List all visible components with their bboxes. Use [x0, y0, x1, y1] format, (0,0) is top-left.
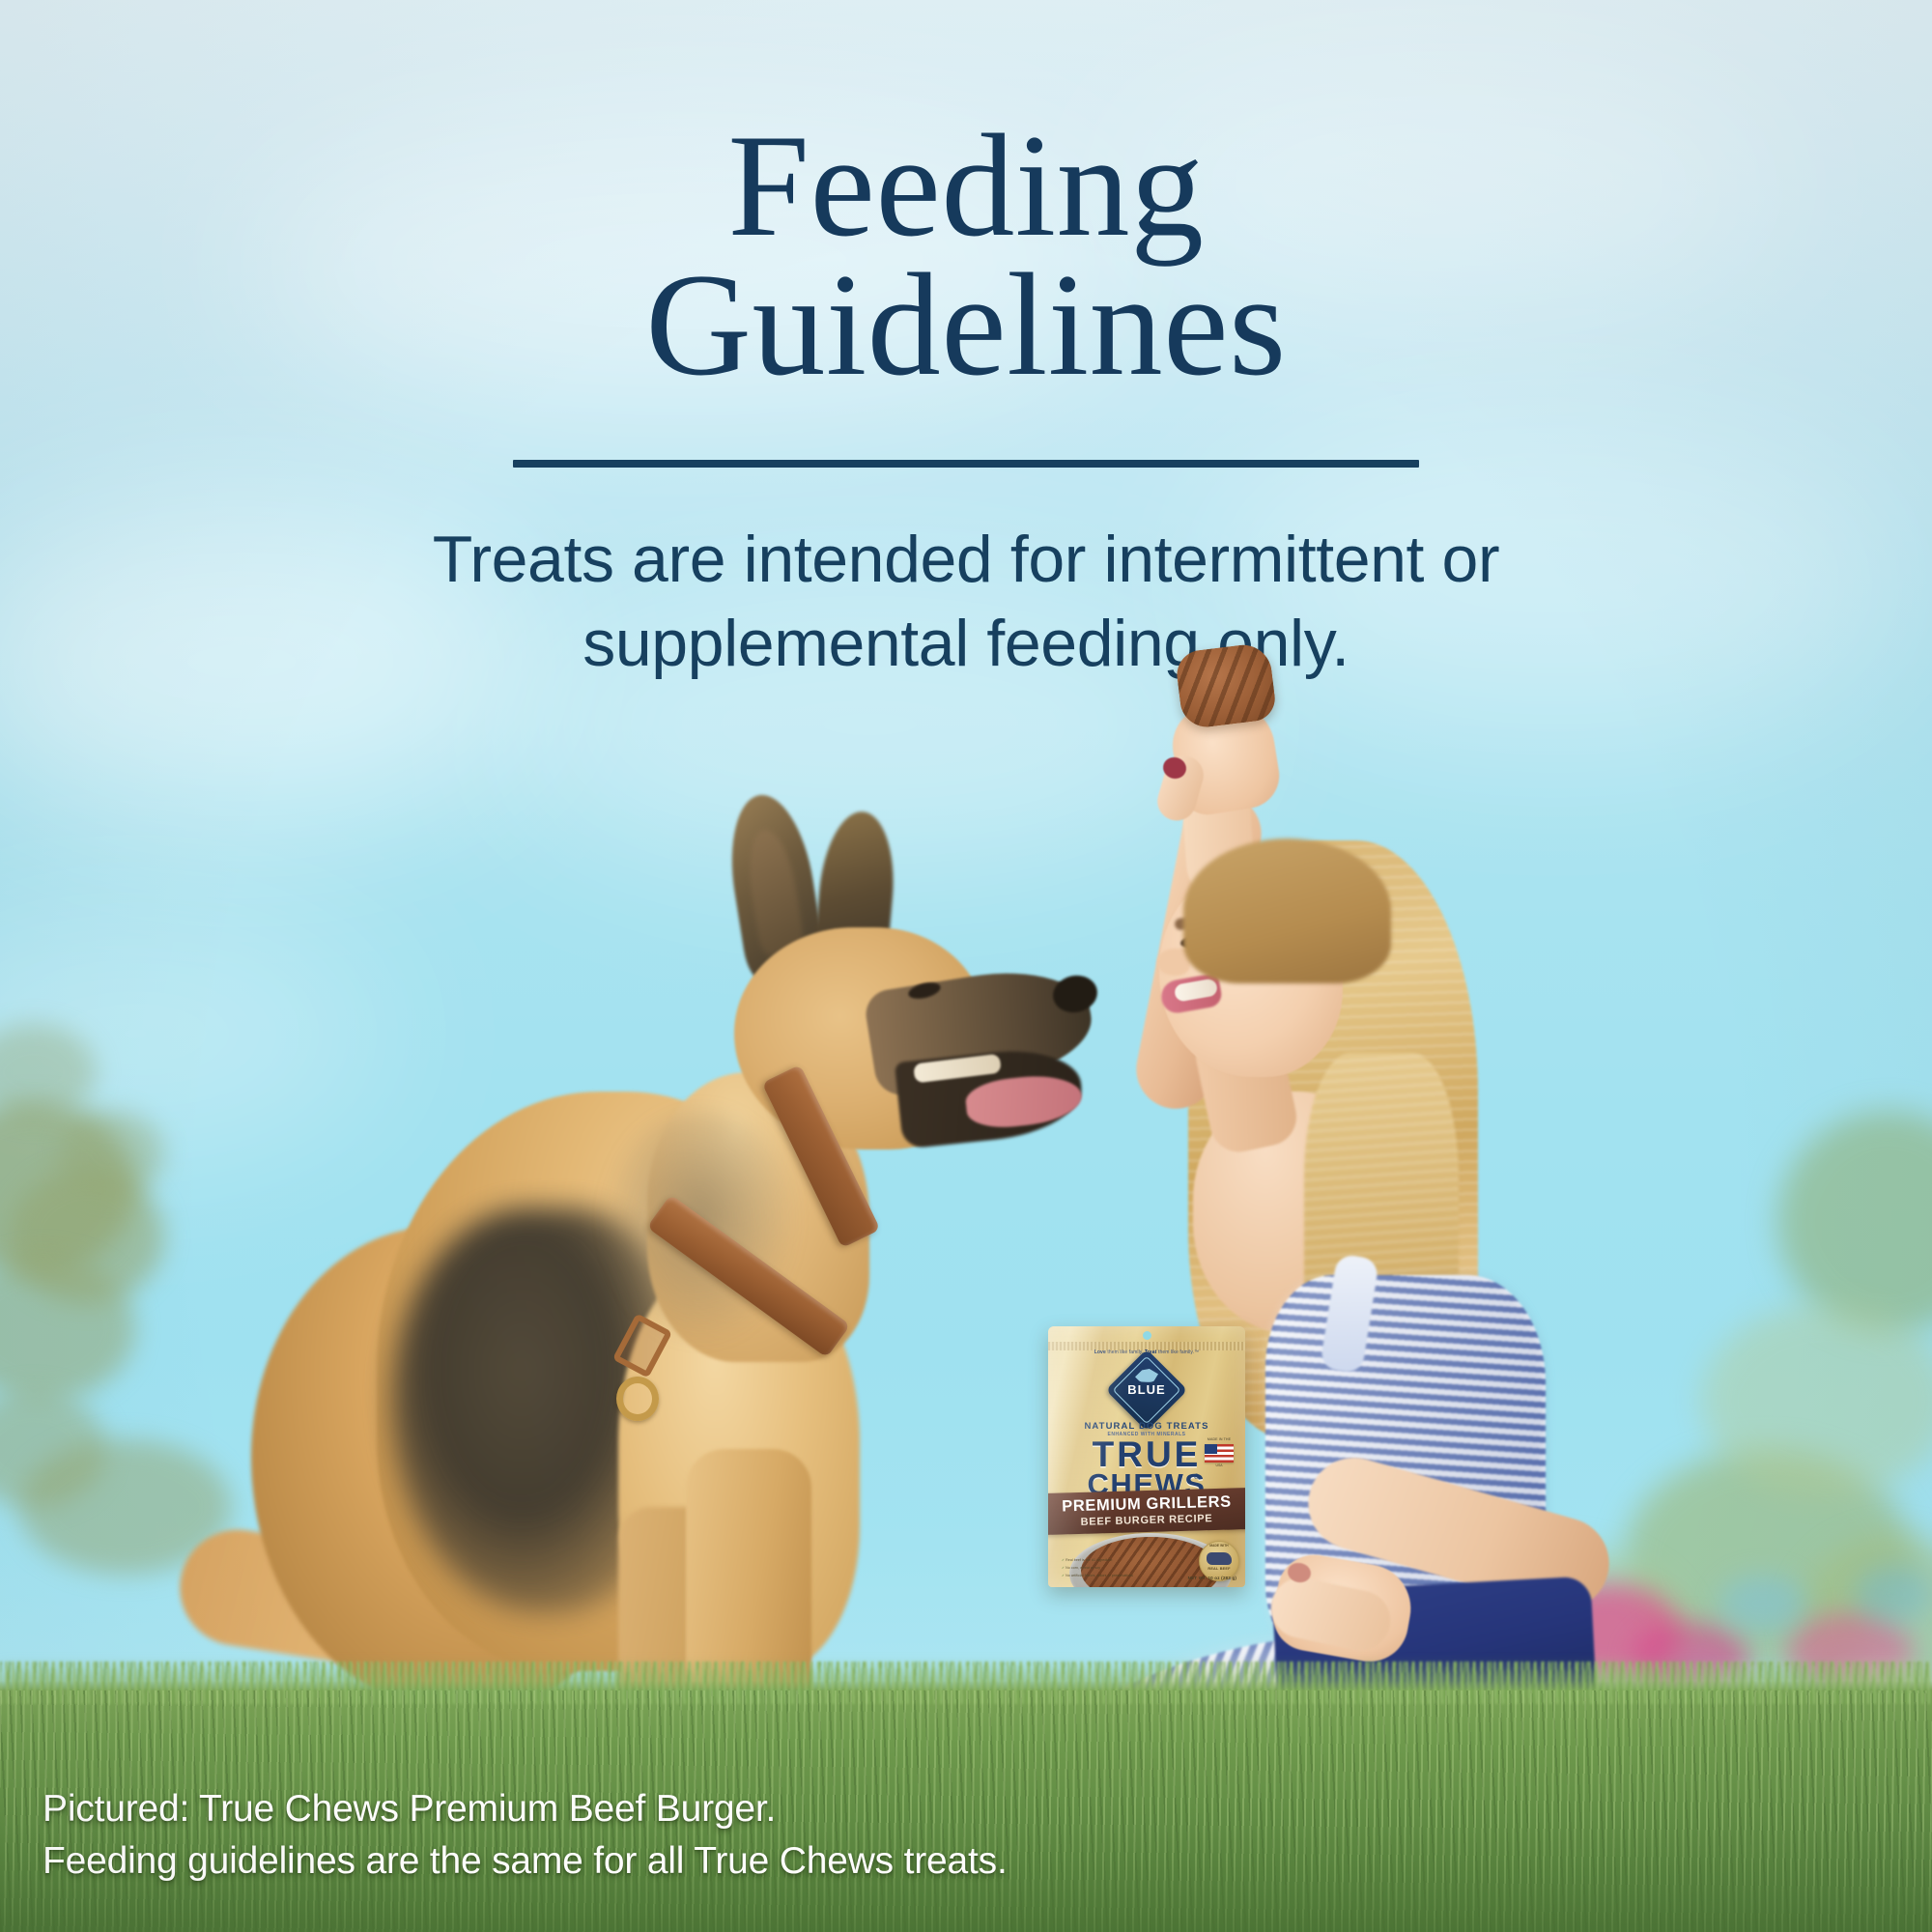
checkmark-icon: ✓ [1062, 1558, 1065, 1562]
seal-text-bottom: REAL BEEF [1199, 1567, 1239, 1571]
beef-burger-treat [1174, 641, 1277, 729]
collar-d-ring [616, 1377, 659, 1421]
package-bullet: ✓ No corn, wheat or soy [1062, 1566, 1100, 1570]
package-brand-line: NATURAL DOG TREATS [1048, 1421, 1245, 1432]
tagline-mid: them like family. [1107, 1350, 1143, 1355]
package-bullet-text: Real beef is the #1 ingredient [1065, 1558, 1112, 1562]
page-subtitle: Treats are intended for intermittent or … [145, 518, 1787, 686]
feeding-guidelines-banner: Feeding Guidelines Treats are intended f… [0, 0, 1932, 1932]
package-bullet-text: No corn, wheat or soy [1065, 1566, 1100, 1570]
woman-hair-crown [1183, 838, 1391, 983]
image-caption: Pictured: True Chews Premium Beef Burger… [43, 1783, 1298, 1888]
tree-foliage-clump [58, 1111, 164, 1198]
flag-canton [1205, 1444, 1217, 1454]
page-title: Feeding Guidelines [0, 116, 1932, 395]
package-bullet: ✓ Real beef is the #1 ingredient [1062, 1558, 1112, 1562]
package-net-weight: NET WT. 10 oz (283 g) [1188, 1576, 1236, 1580]
title-divider [513, 460, 1419, 468]
usa-flag-icon [1205, 1444, 1234, 1463]
blue-brand-wordmark: BLUE [1118, 1382, 1176, 1397]
seal-text-top: MADE WITH [1199, 1544, 1239, 1548]
package-hang-hole [1143, 1331, 1151, 1340]
german-shepherd-dog [232, 869, 966, 1758]
package-bullet: ✓ No artificial flavors, colors or prese… [1062, 1574, 1133, 1577]
woman-holding-treat [985, 734, 1719, 1797]
tagline-love: Love [1094, 1350, 1106, 1355]
blue-flower-cluster [1855, 1565, 1932, 1623]
package-bullet-text: No artificial flavors, colors or preserv… [1065, 1574, 1133, 1577]
true-chews-product-package: Love them like family. Treat them like f… [1048, 1326, 1245, 1587]
blue-flower-cluster [1719, 1575, 1806, 1633]
bison-silhouette-icon [1207, 1552, 1232, 1565]
package-flag-label-top: MADE IN THE [1205, 1437, 1234, 1441]
tree-foliage-clump [0, 1024, 97, 1121]
background-shrub [1777, 1111, 1932, 1333]
package-flag-label-bottom: USA [1205, 1463, 1234, 1467]
checkmark-icon: ✓ [1062, 1574, 1065, 1577]
package-registered-mark: ® [1194, 1474, 1199, 1481]
checkmark-icon: ✓ [1062, 1566, 1065, 1570]
tagline-suffix: them like family.™ [1158, 1350, 1199, 1355]
